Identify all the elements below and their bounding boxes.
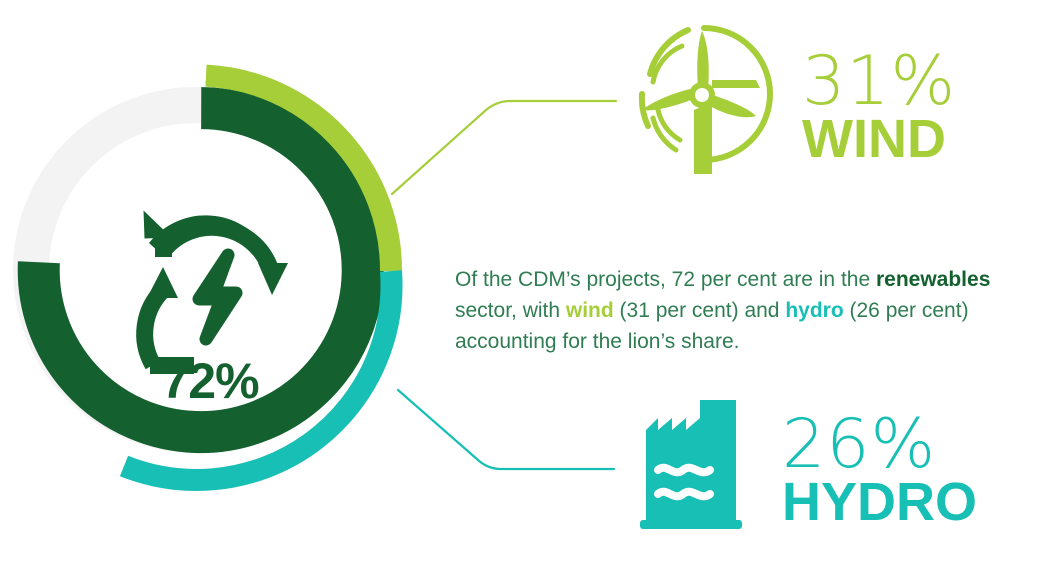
- stat-block-wind: 31% WIND: [628, 22, 956, 187]
- description-part3: (31 per cent) and: [614, 299, 786, 322]
- donut-chart: 72%: [0, 55, 440, 525]
- donut-chart-svg: [0, 55, 440, 525]
- stat-text-hydro: 26% HYDRO: [782, 411, 977, 529]
- renewables-infographic: 72%: [0, 0, 1060, 570]
- stat-label-hydro: HYDRO: [782, 475, 977, 529]
- stat-label-wind: WIND: [802, 112, 946, 166]
- keyword-renewables: renewables: [876, 268, 990, 291]
- renewable-energy-icon: [144, 210, 288, 374]
- wind-turbine-icon: [628, 22, 778, 187]
- stat-percent-wind: 31%: [802, 48, 956, 116]
- stat-text-wind: 31% WIND: [802, 48, 956, 166]
- keyword-wind: wind: [566, 299, 614, 322]
- hydro-plant-icon: [632, 396, 762, 541]
- description-part2: sector, with: [455, 299, 566, 322]
- donut-center-value: 72%: [110, 352, 310, 410]
- keyword-hydro: hydro: [785, 299, 843, 322]
- description-part1: Of the CDM’s projects, 72 per cent are i…: [455, 268, 876, 291]
- stat-block-hydro: 26% HYDRO: [632, 396, 977, 541]
- stat-percent-hydro: 26%: [782, 411, 936, 479]
- description-paragraph: Of the CDM’s projects, 72 per cent are i…: [455, 264, 995, 357]
